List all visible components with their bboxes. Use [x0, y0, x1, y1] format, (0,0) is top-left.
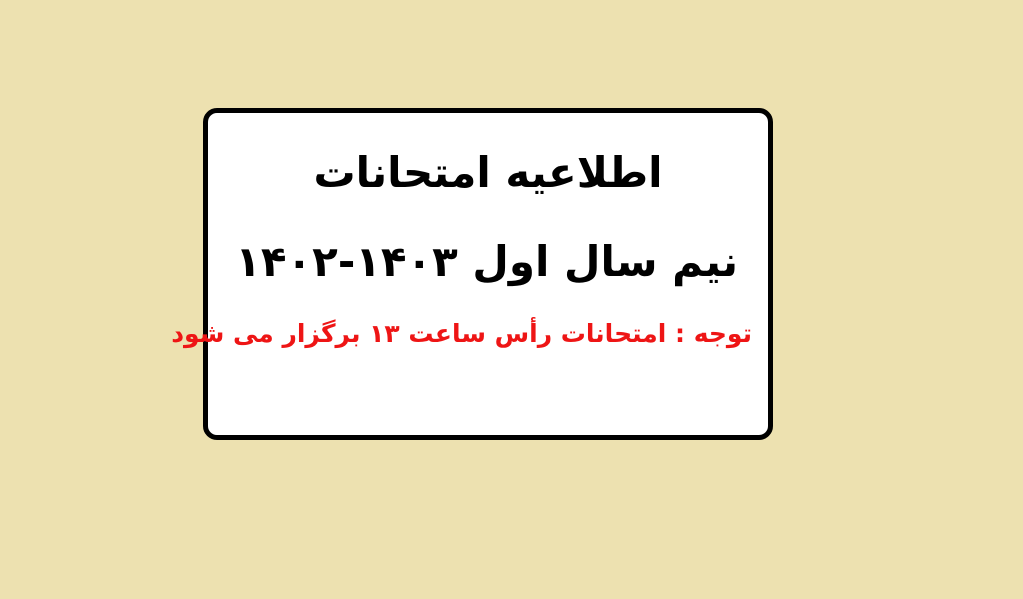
announcement-semester-year: نیم سال اول ۱۴۰۳-۱۴۰۲ — [208, 200, 768, 289]
announcement-title: اطلاعیه امتحانات — [208, 113, 768, 200]
page-background: اطلاعیه امتحانات نیم سال اول ۱۴۰۳-۱۴۰۲ ت… — [0, 0, 1023, 599]
announcement-time-warning: توجه : امتحانات رأس ساعت ۱۳ برگزار می شو… — [208, 288, 768, 351]
exam-announcement-card: اطلاعیه امتحانات نیم سال اول ۱۴۰۳-۱۴۰۲ ت… — [203, 108, 773, 440]
